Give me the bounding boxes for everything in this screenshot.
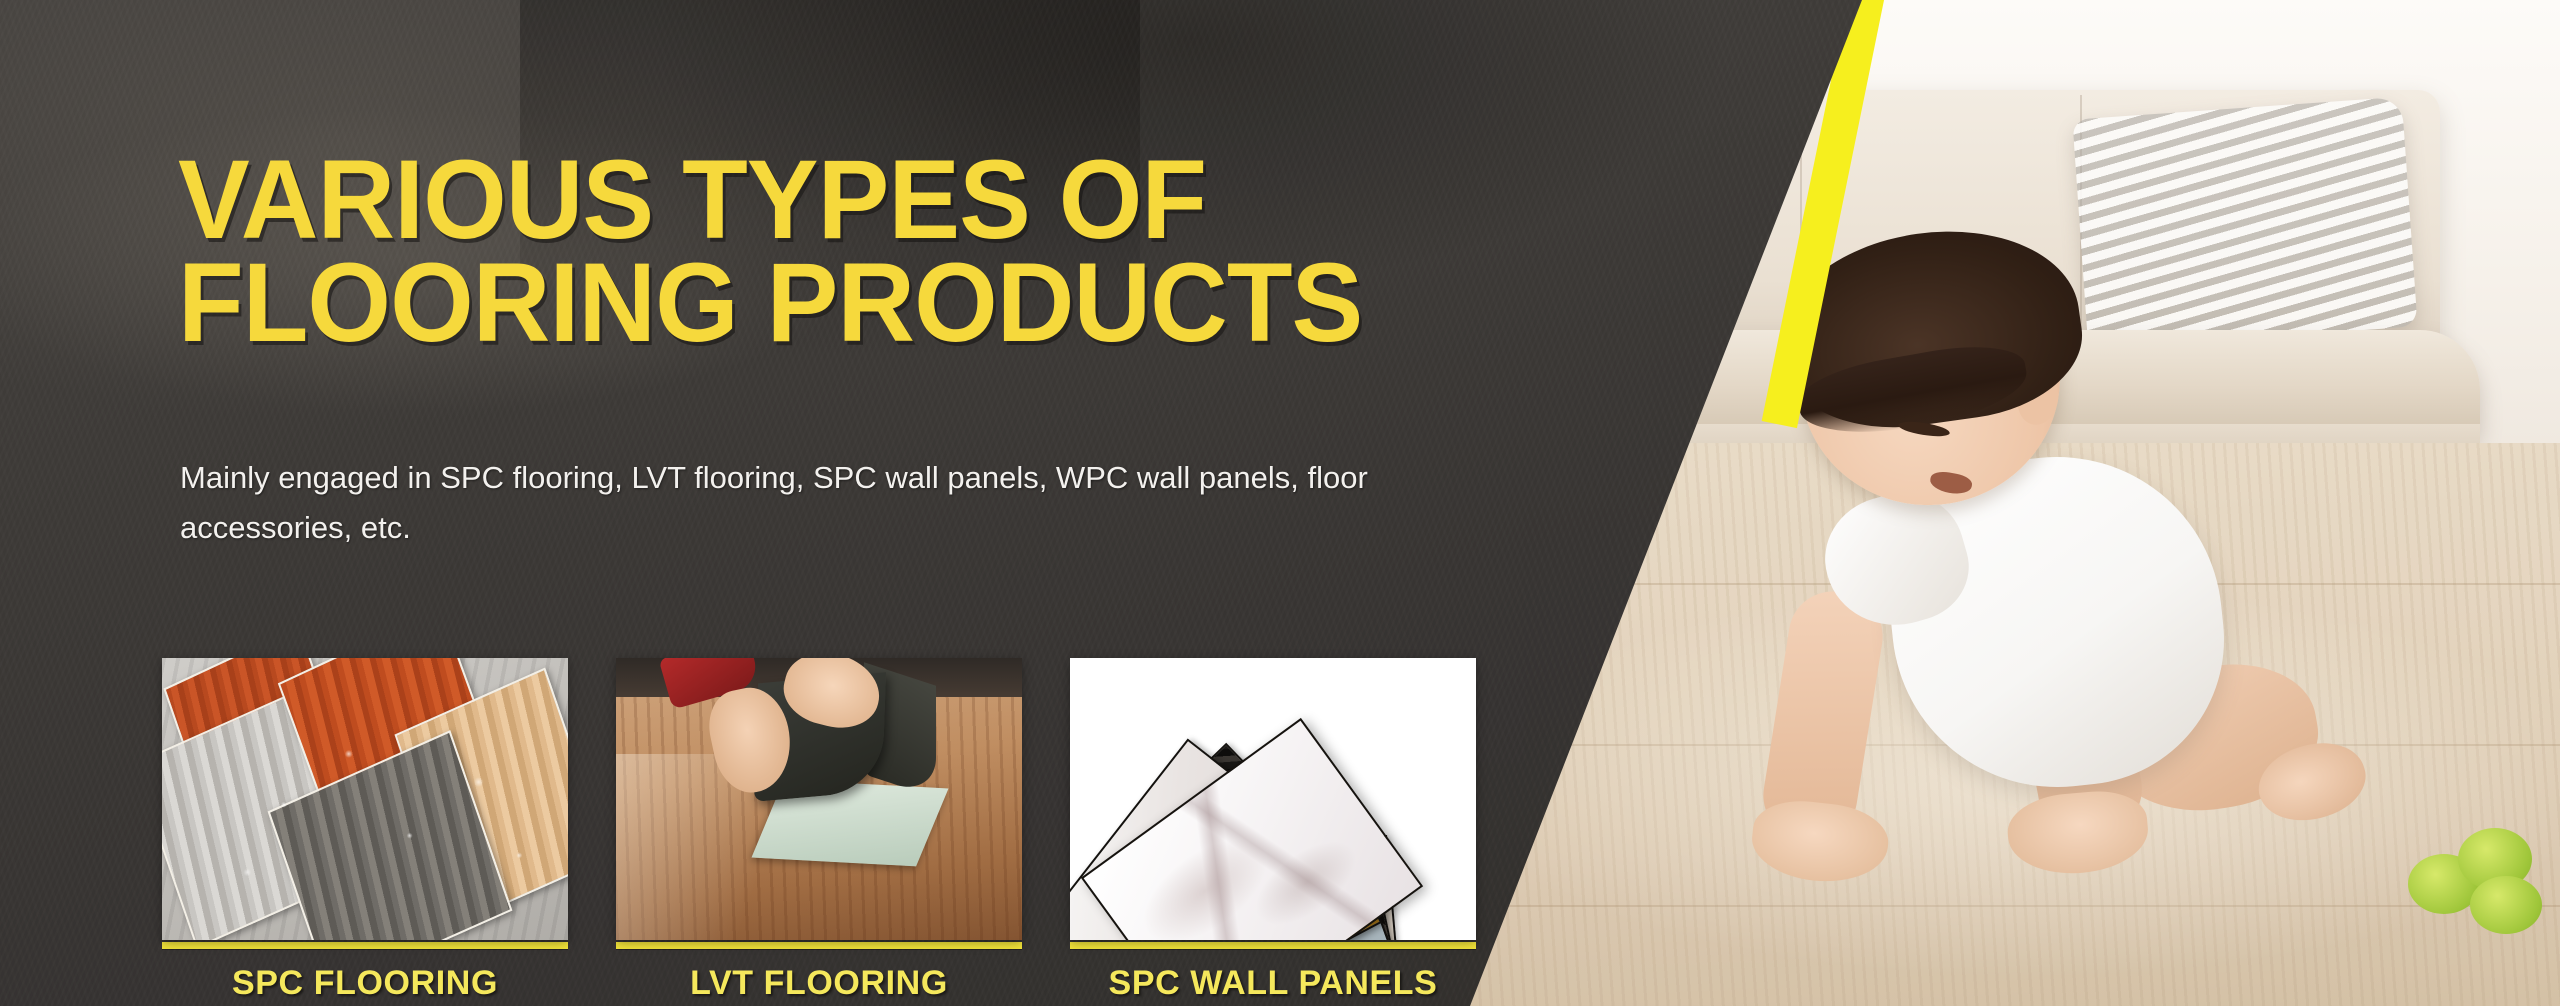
product-card-spc-flooring[interactable]: SPC FLOORING [162, 658, 568, 1003]
product-card-list: SPC FLOORING LVT [162, 658, 1476, 1003]
product-card-spc-wall-panels[interactable]: SPC WALL PANELS [1070, 658, 1476, 1003]
product-card-label: SPC WALL PANELS [1070, 964, 1476, 1003]
spc-wall-panels-photo [1070, 658, 1476, 940]
banner-subtitle: Mainly engaged in SPC flooring, LVT floo… [180, 453, 1500, 553]
card-accent-bar [1070, 942, 1476, 949]
product-thumbnail-spc-wall-panels[interactable] [1070, 658, 1476, 940]
lvt-flooring-photo [616, 658, 1022, 940]
water-droplets [162, 658, 568, 940]
banner-content: VARIOUS TYPES OF FLOORING PRODUCTS Mainl… [0, 0, 2560, 1006]
card-accent-bar [162, 942, 568, 949]
hero-banner: VARIOUS TYPES OF FLOORING PRODUCTS Mainl… [0, 0, 2560, 1006]
spc-flooring-photo [162, 658, 568, 940]
card-accent-bar [616, 942, 1022, 949]
product-card-label: SPC FLOORING [162, 964, 568, 1003]
product-thumbnail-lvt-flooring[interactable] [616, 658, 1022, 940]
product-card-label: LVT FLOORING [616, 964, 1022, 1003]
page-title: VARIOUS TYPES OF FLOORING PRODUCTS [178, 148, 1580, 354]
product-thumbnail-spc-flooring[interactable] [162, 658, 568, 940]
product-card-lvt-flooring[interactable]: LVT FLOORING [616, 658, 1022, 1003]
